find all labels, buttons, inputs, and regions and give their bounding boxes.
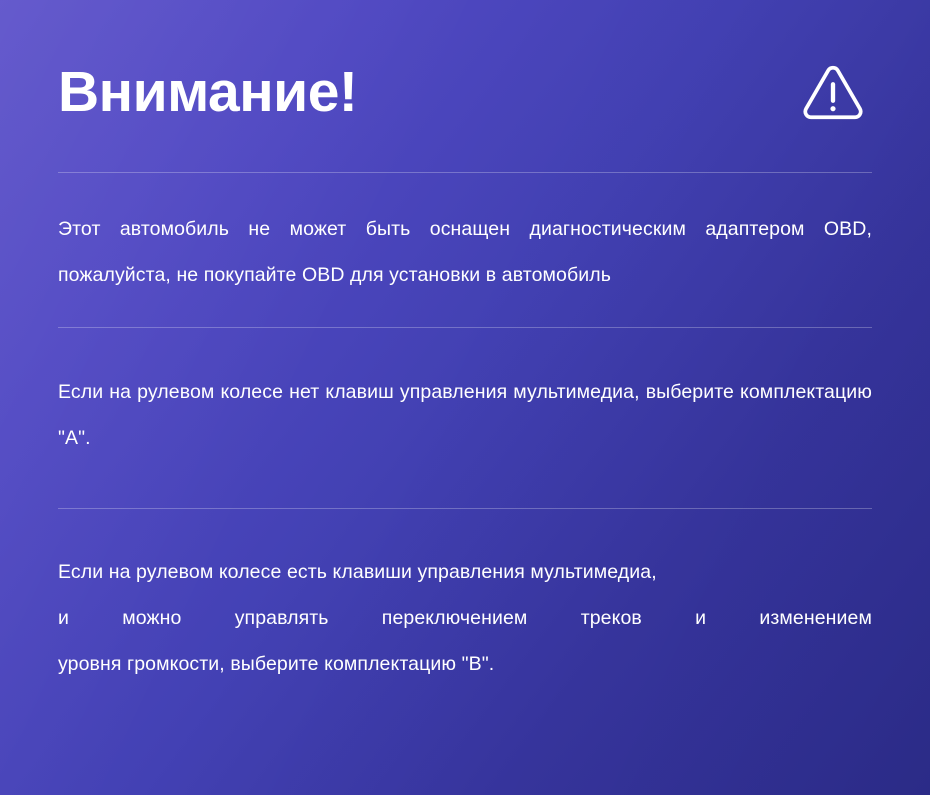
variant-a-text: Если на рулевом колесе нет клавиш управл… <box>58 369 872 461</box>
section-variant-a: Если на рулевом колесе нет клавиш управл… <box>58 328 872 508</box>
banner-header: Внимание! <box>58 0 872 172</box>
section-obd-notice: Этот автомобиль не может быть оснащен ди… <box>58 173 872 327</box>
banner-content: Внимание! Этот автомобиль не может быть … <box>0 0 930 727</box>
section-variant-b: Если на рулевом колесе есть клавиши упра… <box>58 509 872 727</box>
obd-notice-text: Этот автомобиль не может быть оснащен ди… <box>58 206 872 298</box>
page-title: Внимание! <box>58 64 357 121</box>
variant-b-line-2: и можно управлять переключением треков и… <box>58 595 872 641</box>
warning-banner: Внимание! Этот автомобиль не может быть … <box>0 0 930 795</box>
warning-triangle-icon <box>800 59 866 125</box>
variant-b-line-3: уровня громкости, выберите комплектацию … <box>58 641 872 687</box>
variant-b-line-1: Если на рулевом колесе есть клавиши упра… <box>58 549 872 595</box>
